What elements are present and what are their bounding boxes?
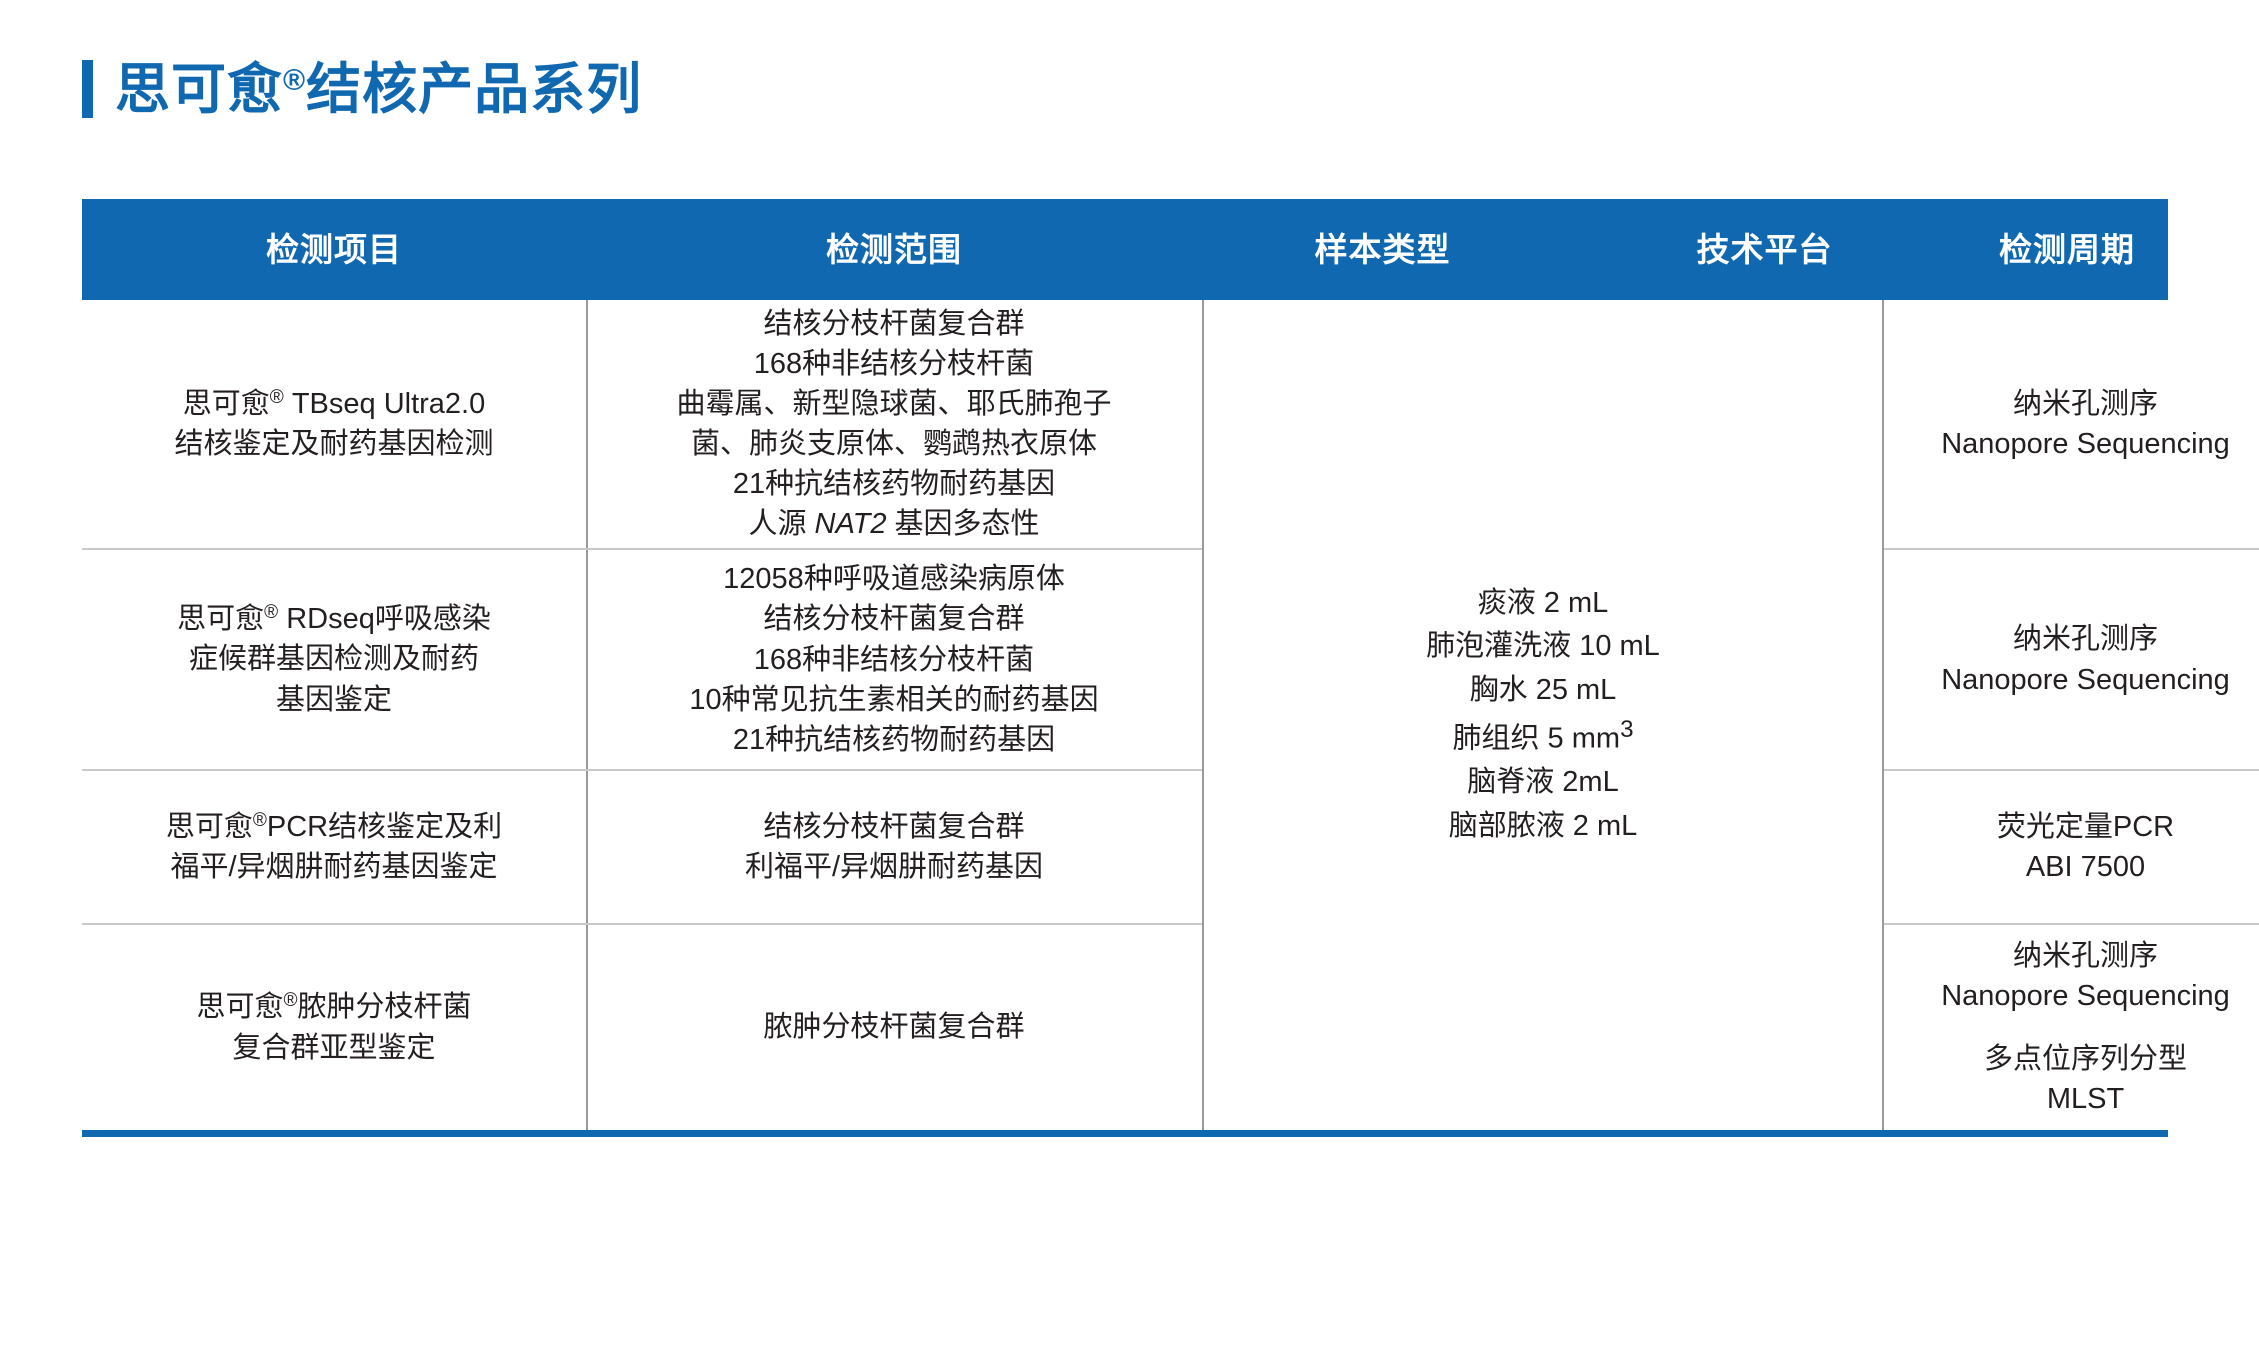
table-row: 思可愈® TBseq Ultra2.0 结核鉴定及耐药基因检测 结核分枝杆菌复合…: [82, 300, 1202, 550]
table-row-right: 荧光定量PCR ABI 7500 20h: [1884, 771, 2259, 925]
range-line-nat2: 人源 NAT2 基因多态性: [748, 504, 1039, 544]
range-line: 168种非结核分枝杆菌: [754, 344, 1034, 384]
item-line: TBseq Ultra2.0: [284, 388, 485, 420]
registered-trademark-icon: ®: [253, 810, 267, 831]
column-header-platform: 技术平台: [1563, 233, 1966, 266]
nat2-suffix: 基因多态性: [886, 508, 1039, 540]
table-row: 思可愈® RDseq呼吸感染 症候群基因检测及耐药 基因鉴定 12058种呼吸道…: [82, 550, 1202, 771]
platform-line: Nanopore Sequencing: [1941, 976, 2230, 1016]
brand-name: 思可愈: [183, 388, 270, 420]
brand-name: 思可愈: [196, 991, 283, 1023]
table-row-right: 纳米孔测序 Nanopore Sequencing 20h: [1884, 300, 2259, 550]
cell-item: 思可愈® TBseq Ultra2.0 结核鉴定及耐药基因检测: [82, 300, 586, 548]
range-line: 168种非结核分枝杆菌: [754, 640, 1034, 680]
registered-trademark-icon: ®: [284, 990, 298, 1011]
sample-type-line: 胸水 25 mL: [1470, 669, 1617, 713]
platform-line: 纳米孔测序: [2013, 619, 2158, 659]
table-body: 思可愈® TBseq Ultra2.0 结核鉴定及耐药基因检测 结核分枝杆菌复合…: [82, 300, 2168, 1130]
product-table: 检测项目 检测范围 样本类型 技术平台 检测周期 思可愈® TBseq Ultr…: [82, 199, 2168, 1137]
cell-item: 思可愈® RDseq呼吸感染 症候群基因检测及耐药 基因鉴定: [82, 550, 586, 769]
column-header-item: 检测项目: [82, 233, 586, 266]
cubic-superscript: 3: [1620, 716, 1633, 743]
range-line: 10种常见抗生素相关的耐药基因: [689, 680, 1098, 720]
platform-line: 多点位序列分型: [1984, 1039, 2187, 1079]
title-accent-bar: [82, 60, 93, 118]
nat2-prefix: 人源: [748, 508, 814, 540]
platform-line: ABI 7500: [2026, 847, 2145, 887]
left-columns: 思可愈® TBseq Ultra2.0 结核鉴定及耐药基因检测 结核分枝杆菌复合…: [82, 300, 1202, 1130]
platform-line: Nanopore Sequencing: [1941, 424, 2230, 464]
table-row-right: 纳米孔测序 Nanopore Sequencing 多点位序列分型 MLST 7…: [1884, 925, 2259, 1130]
platform-line: 荧光定量PCR: [1997, 807, 2174, 847]
column-header-cycle: 检测周期: [1966, 233, 2168, 266]
right-columns: 纳米孔测序 Nanopore Sequencing 20h 纳米孔测序 Nano…: [1884, 300, 2259, 1130]
cell-item: 思可愈®脓肿分枝杆菌 复合群亚型鉴定: [82, 925, 586, 1130]
cell-platform: 荧光定量PCR ABI 7500: [1884, 771, 2259, 923]
cell-range: 结核分枝杆菌复合群 利福平/异烟肼耐药基因: [586, 771, 1202, 923]
range-line: 21种抗结核药物耐药基因: [733, 720, 1055, 760]
item-line: 结核鉴定及耐药基因检测: [174, 424, 493, 464]
nat2-gene: NAT2: [815, 508, 887, 540]
range-line: 21种抗结核药物耐药基因: [733, 464, 1055, 504]
item-line: 症候群基因检测及耐药: [189, 639, 479, 679]
sample-type-line: 脑脊液 2mL: [1467, 761, 1618, 805]
table-row: 思可愈®脓肿分枝杆菌 复合群亚型鉴定 脓肿分枝杆菌复合群: [82, 925, 1202, 1130]
range-line: 12058种呼吸道感染病原体: [723, 559, 1065, 599]
sample-type-line: 肺泡灌洗液 10 mL: [1426, 625, 1660, 669]
range-line: 曲霉属、新型隐球菌、耶氏肺孢子: [676, 384, 1111, 424]
cell-range: 结核分枝杆菌复合群 168种非结核分枝杆菌 曲霉属、新型隐球菌、耶氏肺孢子 菌、…: [586, 300, 1202, 548]
registered-trademark-icon: ®: [270, 387, 284, 408]
platform-line: 纳米孔测序: [2013, 384, 2158, 424]
range-line: 结核分枝杆菌复合群: [763, 807, 1024, 847]
range-line: 脓肿分枝杆菌复合群: [763, 1007, 1024, 1047]
sample-type-line: 肺组织 5 mm3: [1453, 712, 1634, 761]
sample-type-line: 脑部脓液 2 mL: [1449, 805, 1638, 849]
column-header-sample-type: 样本类型: [1202, 233, 1563, 266]
table-row: 思可愈®PCR结核鉴定及利 福平/异烟肼耐药基因鉴定 结核分枝杆菌复合群 利福平…: [82, 771, 1202, 925]
cell-range: 12058种呼吸道感染病原体 结核分枝杆菌复合群 168种非结核分枝杆菌 10种…: [586, 550, 1202, 769]
cell-platform: 纳米孔测序 Nanopore Sequencing: [1884, 550, 2259, 769]
title-prefix: 思可愈: [115, 58, 283, 120]
item-line: RDseq呼吸感染: [278, 603, 491, 635]
registered-trademark-icon: ®: [283, 64, 306, 97]
range-line: 结核分枝杆菌复合群: [763, 304, 1024, 344]
range-line: 利福平/异烟肼耐药基因: [745, 847, 1043, 887]
brand-name: 思可愈: [166, 811, 253, 843]
item-line: 福平/异烟肼耐药基因鉴定: [170, 847, 497, 887]
range-line: 菌、肺炎支原体、鹦鹉热衣原体: [691, 424, 1097, 464]
cell-sample-type-merged: 痰液 2 mL 肺泡灌洗液 10 mL 胸水 25 mL 肺组织 5 mm3 脑…: [1202, 300, 1884, 1130]
item-line: 复合群亚型鉴定: [232, 1028, 435, 1068]
brand-name: 思可愈: [177, 603, 264, 635]
lung-tissue-label: 肺组织 5 mm: [1453, 723, 1621, 755]
cell-platform: 纳米孔测序 Nanopore Sequencing: [1884, 300, 2259, 548]
cell-item: 思可愈®PCR结核鉴定及利 福平/异烟肼耐药基因鉴定: [82, 771, 586, 923]
item-line: PCR结核鉴定及利: [267, 811, 502, 843]
range-line: 结核分枝杆菌复合群: [763, 599, 1024, 639]
title-suffix: 结核产品系列: [306, 58, 642, 120]
item-line: 脓肿分枝杆菌: [298, 991, 472, 1023]
platform-line: 纳米孔测序: [2013, 936, 2158, 976]
column-header-range: 检测范围: [586, 233, 1202, 266]
table-row-right: 纳米孔测序 Nanopore Sequencing 20h: [1884, 550, 2259, 771]
page-title-text: 思可愈®结核产品系列: [115, 62, 642, 117]
registered-trademark-icon: ®: [264, 602, 278, 623]
cell-platform: 纳米孔测序 Nanopore Sequencing 多点位序列分型 MLST: [1884, 925, 2259, 1130]
page-title: 思可愈®结核产品系列: [82, 57, 642, 121]
table-header-row: 检测项目 检测范围 样本类型 技术平台 检测周期: [82, 199, 2168, 300]
cell-range: 脓肿分枝杆菌复合群: [586, 925, 1202, 1130]
platform-line: Nanopore Sequencing: [1941, 660, 2230, 700]
sample-type-line: 痰液 2 mL: [1478, 582, 1609, 626]
item-line: 基因鉴定: [276, 680, 392, 720]
table-bottom-rule: [82, 1130, 2168, 1137]
platform-line: MLST: [2047, 1079, 2124, 1119]
